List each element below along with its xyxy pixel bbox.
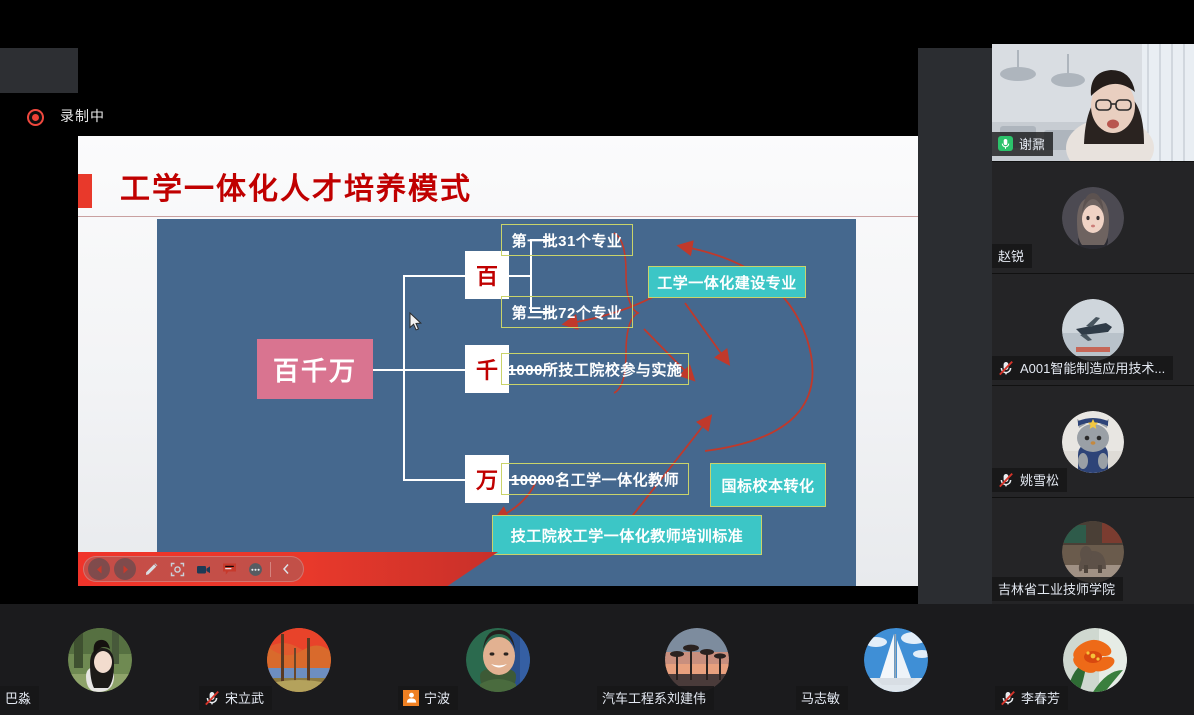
illustrated-woman-avatar [1062, 187, 1124, 249]
recording-bar [0, 48, 918, 93]
more-dots-icon[interactable] [244, 558, 266, 580]
filmstrip-name-badge: 宋立武 [199, 686, 272, 710]
meeting-window: 录制中 工学一体化人才培养模式 [0, 0, 1194, 715]
chat-bubble-icon[interactable] [218, 558, 240, 580]
participant-name: 吉林省工业技师学院 [998, 579, 1115, 598]
mic-off-icon [204, 690, 220, 706]
share-side-gutter [918, 48, 992, 604]
recording-label: 录制中 [60, 106, 105, 126]
tile-name-badge: A001智能制造应用技术... [992, 356, 1173, 380]
tile-name-badge: 谢鼐 [992, 132, 1053, 156]
orange-flowers-avatar [1063, 628, 1127, 692]
participant-name: 宋立武 [225, 688, 264, 707]
filmstrip-cell-mazhimin[interactable]: 马志敏 [796, 604, 995, 715]
mic-on-icon [998, 136, 1013, 151]
annotation-toolbar[interactable] [83, 556, 304, 582]
next-arrow-icon[interactable] [114, 558, 136, 580]
filmstrip-cell-bamiao[interactable]: 巴淼 [0, 604, 199, 715]
sidebar-tile-video[interactable]: 谢鼐 [992, 44, 1194, 161]
sidebar-tile-yaoxuesong[interactable]: 姚雪松 [992, 386, 1194, 497]
filmstrip-name-badge: 马志敏 [796, 686, 848, 710]
collapse-chevron-icon[interactable] [275, 558, 297, 580]
smiling-man-avatar [466, 628, 530, 692]
sidebar-tile-jilin[interactable]: 吉林省工业技师学院 [992, 498, 1194, 606]
title-divider [78, 216, 918, 217]
presentation-slide: 工学一体化人才培养模式 [78, 136, 918, 586]
host-person-icon [403, 690, 419, 706]
participant-filmstrip[interactable]: 巴淼 [0, 604, 1194, 715]
mic-off-icon [998, 360, 1014, 376]
pencil-icon[interactable] [140, 558, 162, 580]
filmstrip-cell-songliwu[interactable]: 宋立武 [199, 604, 398, 715]
screen-share-viewport: 录制中 工学一体化人才培养模式 [0, 48, 918, 604]
girl-in-forest-avatar [68, 628, 132, 692]
sunset-palms-avatar [665, 628, 729, 692]
branch-char-bai: 百 [465, 251, 509, 299]
branch-item-first-batch: 第一批31个专业 [501, 224, 633, 256]
airplane-photo-avatar [1062, 299, 1124, 361]
teal-box-construction-major: 工学一体化建设专业 [648, 266, 806, 298]
participant-name: 汽车工程系刘建伟 [602, 688, 706, 707]
title-accent-bar [78, 174, 92, 208]
filmstrip-name-badge: 宁波 [398, 686, 458, 710]
participant-name: 巴淼 [5, 688, 31, 707]
tile-name-badge: 吉林省工业技师学院 [992, 577, 1123, 601]
elephant-photo-avatar [1062, 521, 1124, 583]
camera-icon[interactable] [192, 558, 214, 580]
participant-name: 姚雪松 [1020, 470, 1059, 489]
sidebar-tile-a001[interactable]: A001智能制造应用技术... [992, 274, 1194, 385]
autumn-trees-avatar [267, 628, 331, 692]
filmstrip-name-badge: 巴淼 [0, 686, 39, 710]
branch-item-10000-teachers: 10000名工学一体化教师 [501, 463, 689, 495]
participant-name: A001智能制造应用技术... [1020, 358, 1165, 377]
mic-off-icon [998, 472, 1014, 488]
toolbar-divider [270, 562, 271, 577]
filmstrip-cell-lichunfang[interactable]: 李春芳 [995, 604, 1194, 715]
teal-box-training-standard: 技工院校工学一体化教师培训标准 [492, 515, 762, 555]
tile-name-badge: 赵锐 [992, 244, 1032, 268]
participant-sidebar[interactable]: 谢鼐 [992, 44, 1194, 604]
teal-box-standard-conversion: 国标校本转化 [710, 463, 826, 507]
diagram-main-box: 百千万 [257, 339, 373, 399]
slide-title: 工学一体化人才培养模式 [120, 164, 472, 208]
prev-arrow-icon[interactable] [88, 558, 110, 580]
sailboat-avatar [864, 628, 928, 692]
record-dot-icon [27, 109, 44, 126]
mic-off-icon [1000, 690, 1016, 706]
participant-name: 李春芳 [1021, 688, 1060, 707]
fit-frame-icon[interactable] [166, 558, 188, 580]
police-cat-plush-avatar [1062, 411, 1124, 473]
branch-item-1000-schools: 1000所技工院校参与实施 [501, 353, 689, 385]
branch-item-second-batch: 第二批72个专业 [501, 296, 633, 328]
sidebar-tile-zhaorui[interactable]: 赵锐 [992, 162, 1194, 273]
participant-name: 马志敏 [801, 688, 840, 707]
recording-chip-bg [0, 48, 78, 93]
filmstrip-cell-ningbo[interactable]: 宁波 [398, 604, 597, 715]
filmstrip-cell-liujianwei[interactable]: 汽车工程系刘建伟 [597, 604, 796, 715]
diagram-canvas: 百千万 百 千 万 第一批31个专业 第二批72个专业 1000所技工院校参与实… [157, 219, 856, 586]
participant-name: 宁波 [424, 688, 450, 707]
participant-name: 赵锐 [998, 246, 1024, 265]
filmstrip-name-badge: 李春芳 [995, 686, 1068, 710]
participant-name: 谢鼐 [1019, 134, 1045, 153]
filmstrip-name-badge: 汽车工程系刘建伟 [597, 686, 714, 710]
tile-name-badge: 姚雪松 [992, 468, 1067, 492]
